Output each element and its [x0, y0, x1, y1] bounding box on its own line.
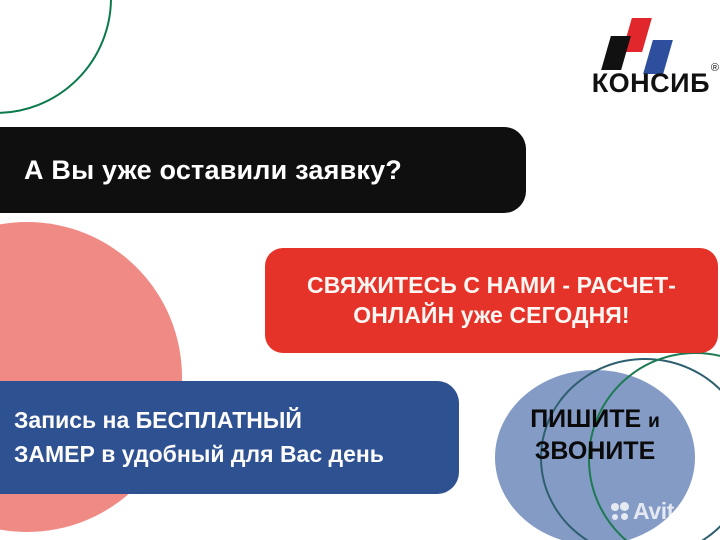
booking-card: Запись на БЕСПЛАТНЫЙ ЗАМЕР в удобный для…	[0, 381, 459, 494]
contact-card-line-2-part-a: ОНЛАЙН	[353, 302, 460, 328]
callout-line-1-part-a: ПИШИТЕ	[530, 405, 648, 433]
callout-line-2: ЗВОНИТЕ	[495, 436, 695, 468]
contact-card-line-2-part-c: СЕГОДНЯ!	[509, 302, 629, 328]
promo-poster: КОНСИБ ® А Вы уже оставили заявку? СВЯЖИ…	[0, 0, 720, 540]
contact-card-line-2-part-b: уже	[461, 302, 510, 328]
registered-trademark-icon: ®	[711, 63, 719, 74]
callout-line-1-part-b: и	[648, 411, 660, 432]
contact-card: СВЯЖИТЕСЬ С НАМИ - РАСЧЕТ- ОНЛАЙН уже СЕ…	[265, 248, 718, 353]
contact-card-line-1: СВЯЖИТЕСЬ С НАМИ - РАСЧЕТ-	[307, 271, 676, 301]
green-ring-decoration-top-left	[0, 0, 112, 114]
contact-card-line-2: ОНЛАЙН уже СЕГОДНЯ!	[353, 301, 629, 331]
callout-text: ПИШИТЕ и ЗВОНИТЕ	[495, 404, 695, 467]
logo-mark-icon	[575, 18, 710, 68]
logo-wordmark: КОНСИБ	[575, 68, 710, 99]
company-logo: КОНСИБ ®	[575, 18, 710, 104]
booking-card-line-2: ЗАМЕР в удобный для Вас день	[14, 438, 459, 471]
booking-card-line-1: Запись на БЕСПЛАТНЫЙ	[14, 404, 459, 437]
callout-line-1: ПИШИТЕ и	[495, 404, 695, 436]
question-banner-text: А Вы уже оставили заявку?	[24, 155, 402, 186]
question-banner: А Вы уже оставили заявку?	[0, 127, 526, 213]
logo-parallelogram-black-icon	[601, 36, 631, 70]
